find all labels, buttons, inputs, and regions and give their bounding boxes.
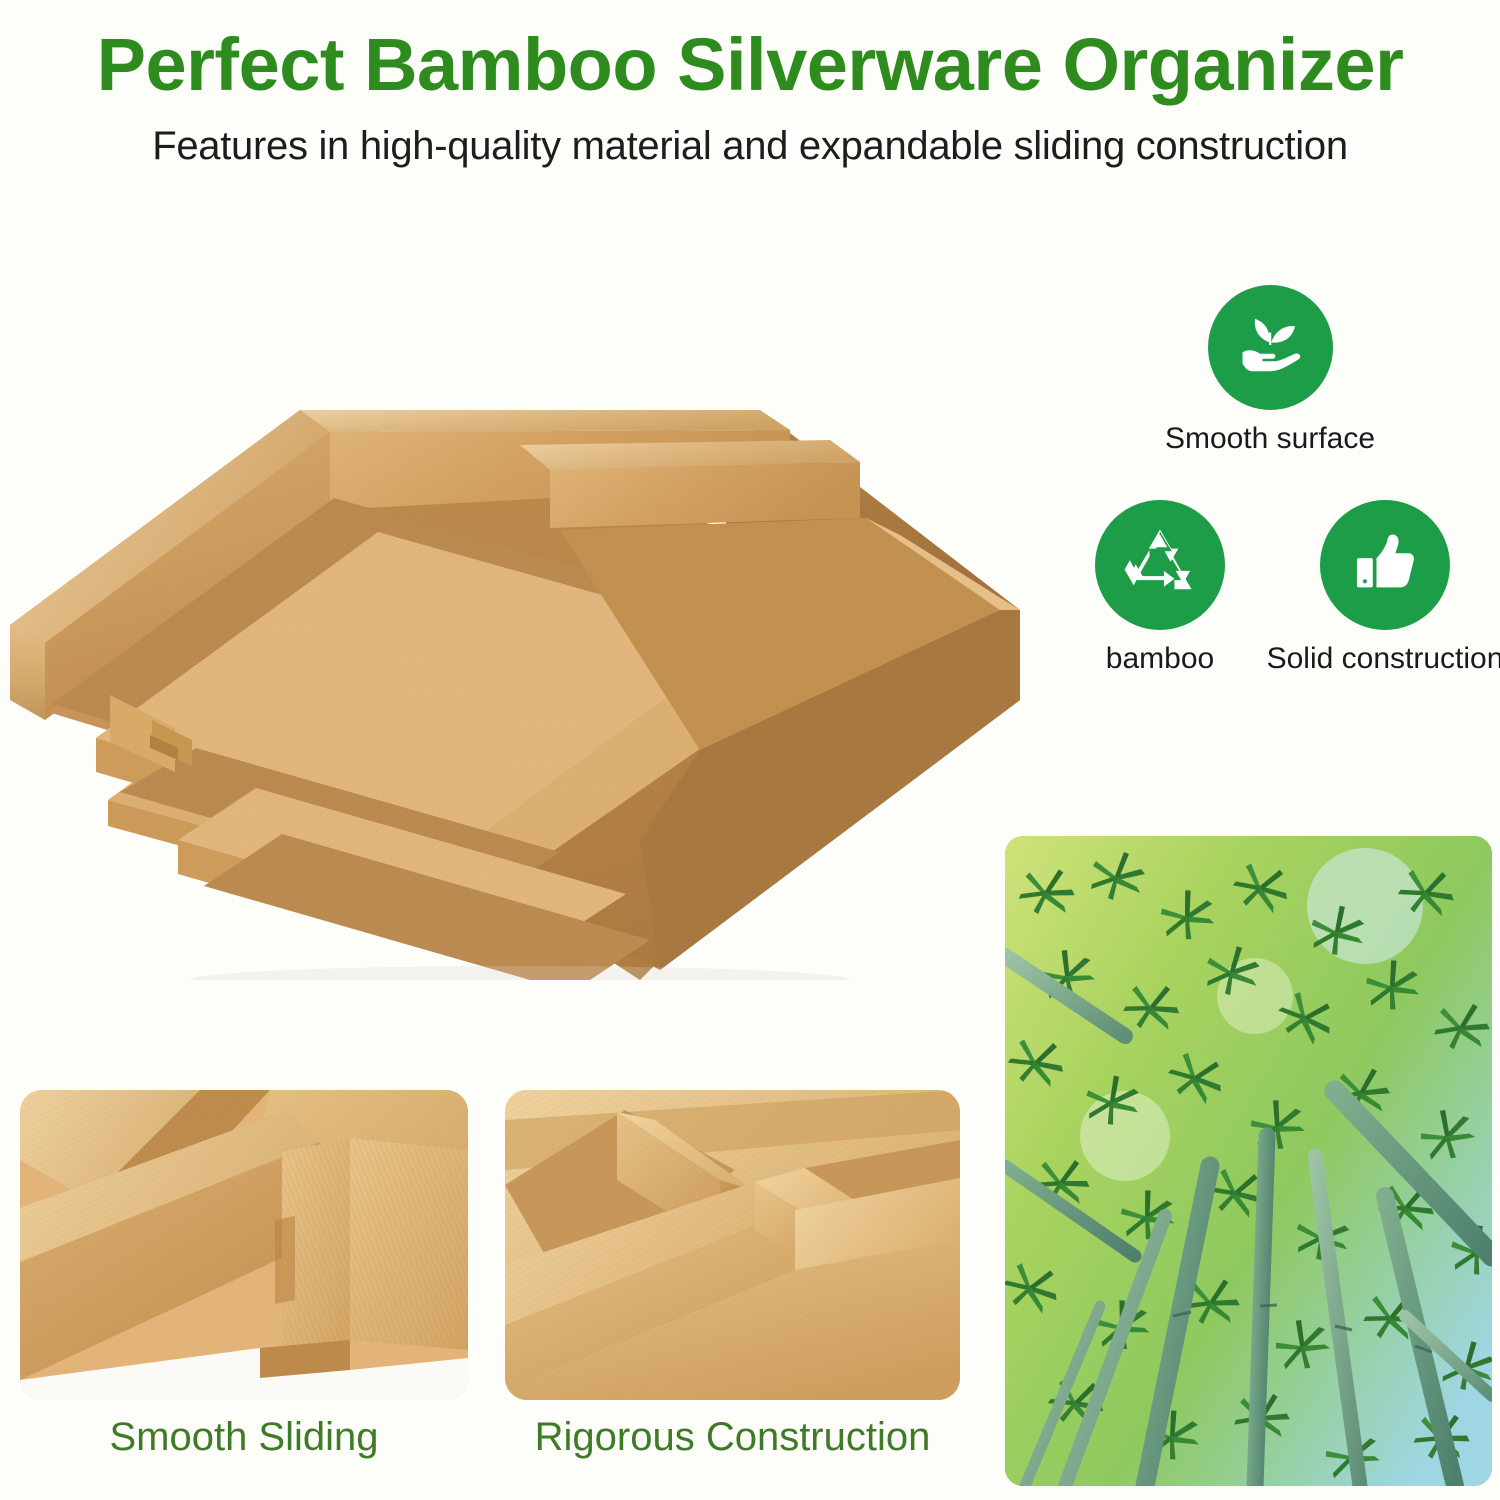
badge-label: bamboo: [1030, 642, 1290, 676]
badge-label: Solid construction: [1255, 642, 1500, 676]
detail-image-rigorous-construction: [505, 1090, 960, 1400]
page-title: Perfect Bamboo Silverware Organizer: [0, 22, 1500, 107]
recycle-icon: [1118, 521, 1202, 610]
feature-badge-solid-construction: Solid construction: [1255, 500, 1500, 676]
detail-image-smooth-sliding: [20, 1090, 468, 1400]
badge-circle: [1320, 500, 1450, 630]
feature-badge-bamboo: bamboo: [1030, 500, 1290, 676]
page-subtitle: Features in high-quality material and ex…: [0, 124, 1500, 169]
detail-caption-rigorous-construction: Rigorous Construction: [505, 1415, 960, 1460]
badge-circle: [1208, 285, 1333, 410]
header-banner: Perfect Bamboo Silverware Organizer Feat…: [0, 0, 1500, 190]
thumbs-up-icon: [1346, 524, 1424, 607]
feature-badge-smooth-surface: Smooth surface: [1140, 285, 1400, 456]
badge-circle: [1095, 500, 1225, 630]
detail-caption-smooth-sliding: Smooth Sliding: [20, 1415, 468, 1460]
bamboo-tray-illustration: [0, 280, 1030, 980]
hero-product-image: [0, 280, 1030, 980]
bamboo-forest-canopy-photo: [1005, 836, 1492, 1486]
feature-badge-group: Smooth surface bamboo: [1040, 285, 1500, 705]
badge-label: Smooth surface: [1140, 422, 1400, 456]
plant-in-hand-icon: [1230, 305, 1310, 390]
